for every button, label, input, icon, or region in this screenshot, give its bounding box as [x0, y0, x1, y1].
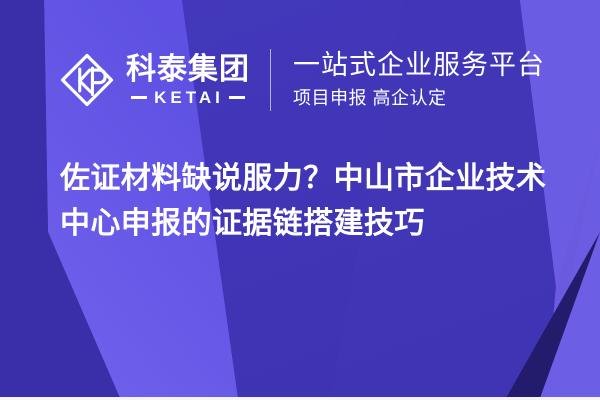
- tagline-sub: 项目申报 高企认定: [293, 87, 545, 110]
- tagline-block: 一站式企业服务平台 项目申报 高企认定: [293, 50, 545, 110]
- company-name-en: KETAI: [154, 89, 224, 106]
- dash-right-icon: [229, 96, 245, 99]
- dash-left-icon: [131, 96, 147, 99]
- vertical-divider-icon: [270, 49, 271, 111]
- brand-logo[interactable]: 科泰集团 KETAI: [58, 51, 250, 109]
- navy-wedge-bottom-right: [506, 232, 600, 398]
- promo-banner: 科泰集团 KETAI 一站式企业服务平台 项目申报 高企认定 佐证材料缺说服力？…: [0, 0, 600, 400]
- dark-wedge-bottom-right: [506, 250, 600, 398]
- banner-header: 科泰集团 KETAI 一站式企业服务平台 项目申报 高企认定: [58, 40, 545, 120]
- company-name-cn: 科泰集团: [126, 54, 250, 86]
- banner-title: 佐证材料缺说服力？中山市企业技术中心申报的证据链搭建技巧: [60, 156, 560, 246]
- company-name-en-row: KETAI: [126, 89, 250, 106]
- tagline-main: 一站式企业服务平台: [293, 50, 545, 82]
- brand-logo-text: 科泰集团 KETAI: [126, 54, 250, 106]
- light-sliver-bottom-right: [540, 232, 600, 398]
- ketai-kp-monogram-icon: [58, 51, 116, 109]
